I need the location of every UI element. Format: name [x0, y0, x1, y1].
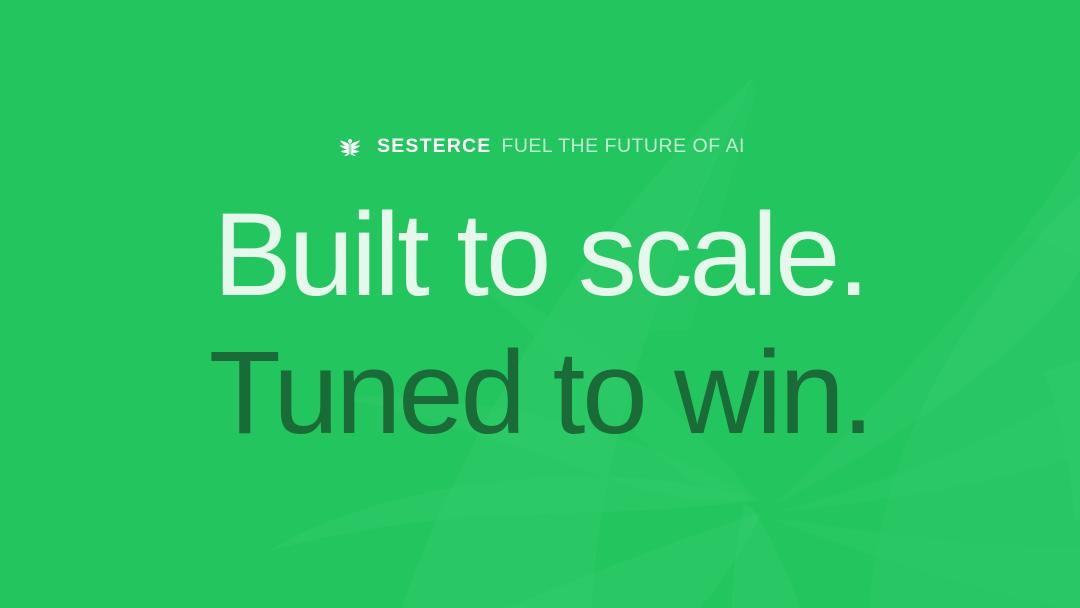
headline-line-1: Built to scale.	[0, 186, 1080, 324]
brand-tagline: FUEL THE FUTURE OF AI	[501, 137, 744, 157]
headline-line-2: Tuned to win.	[0, 324, 1080, 462]
brand-name: SESTERCE	[377, 137, 491, 157]
phoenix-wings-icon	[335, 135, 365, 159]
brand-row: SESTERCE FUEL THE FUTURE OF AI	[335, 134, 745, 160]
promo-slide: SESTERCE FUEL THE FUTURE OF AI Built to …	[0, 0, 1080, 608]
headline-block: Built to scale. Tuned to win.	[0, 186, 1080, 462]
slide-content: SESTERCE FUEL THE FUTURE OF AI Built to …	[0, 0, 1080, 608]
